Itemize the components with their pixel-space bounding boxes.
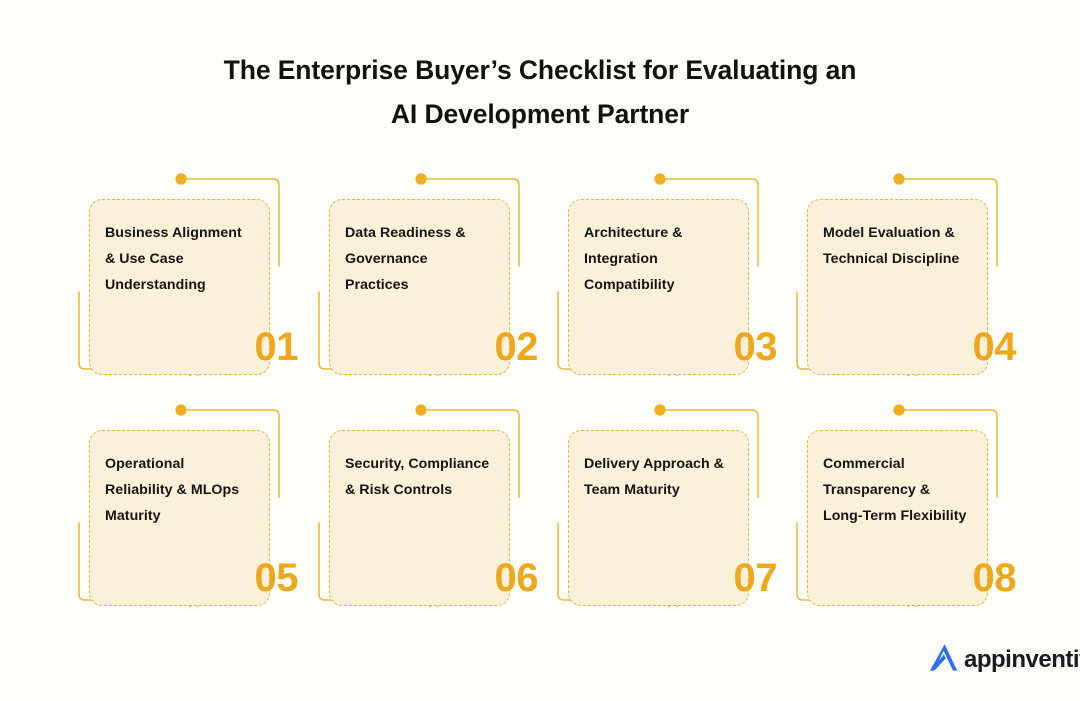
appinventiv-a-mark-icon [927,641,961,679]
card-number: 02 [495,327,539,367]
card-top-dot-marker [175,173,186,184]
card-title: Commercial Transparency & Long-Term Flex… [823,451,973,529]
card-number: 06 [495,558,539,598]
checklist-card-02[interactable]: Data Readiness & Governance Practices02 [310,170,550,385]
card-top-dot-marker [654,173,665,184]
card-title: Data Readiness & Governance Practices [345,220,495,298]
card-top-dot-marker [175,404,186,415]
card-top-dot-marker [893,173,904,184]
checklist-card-04[interactable]: Model Evaluation & Technical Discipline0… [788,170,1028,385]
card-title: Operational Reliability & MLOps Maturity [105,451,255,529]
appinventiv-wordmark: appinventiv [964,647,1080,673]
card-top-dot-marker [415,173,426,184]
card-number: 08 [973,558,1017,598]
card-title: Security, Compliance & Risk Controls [345,451,495,503]
card-number: 07 [734,558,778,598]
checklist-card-05[interactable]: Operational Reliability & MLOps Maturity… [70,401,310,616]
appinventiv-logo: appinventiv [927,641,1080,679]
card-top-dot-marker [415,404,426,415]
card-title: Delivery Approach & Team Maturity [584,451,734,503]
card-number: 04 [973,327,1017,367]
card-title: Architecture & Integration Compatibility [584,220,734,298]
checklist-card-06[interactable]: Security, Compliance & Risk Controls06 [310,401,550,616]
checklist-card-01[interactable]: Business Alignment & Use Case Understand… [70,170,310,385]
card-number: 01 [255,327,299,367]
card-number: 05 [255,558,299,598]
checklist-card-08[interactable]: Commercial Transparency & Long-Term Flex… [788,401,1028,616]
infographic-canvas: The Enterprise Buyer’s Checklist for Eva… [0,0,1080,701]
checklist-card-grid: Business Alignment & Use Case Understand… [0,0,1080,701]
card-title: Business Alignment & Use Case Understand… [105,220,255,298]
card-number: 03 [734,327,778,367]
card-top-dot-marker [654,404,665,415]
card-title: Model Evaluation & Technical Discipline [823,220,973,272]
card-top-dot-marker [893,404,904,415]
checklist-card-07[interactable]: Delivery Approach & Team Maturity07 [549,401,789,616]
checklist-card-03[interactable]: Architecture & Integration Compatibility… [549,170,789,385]
